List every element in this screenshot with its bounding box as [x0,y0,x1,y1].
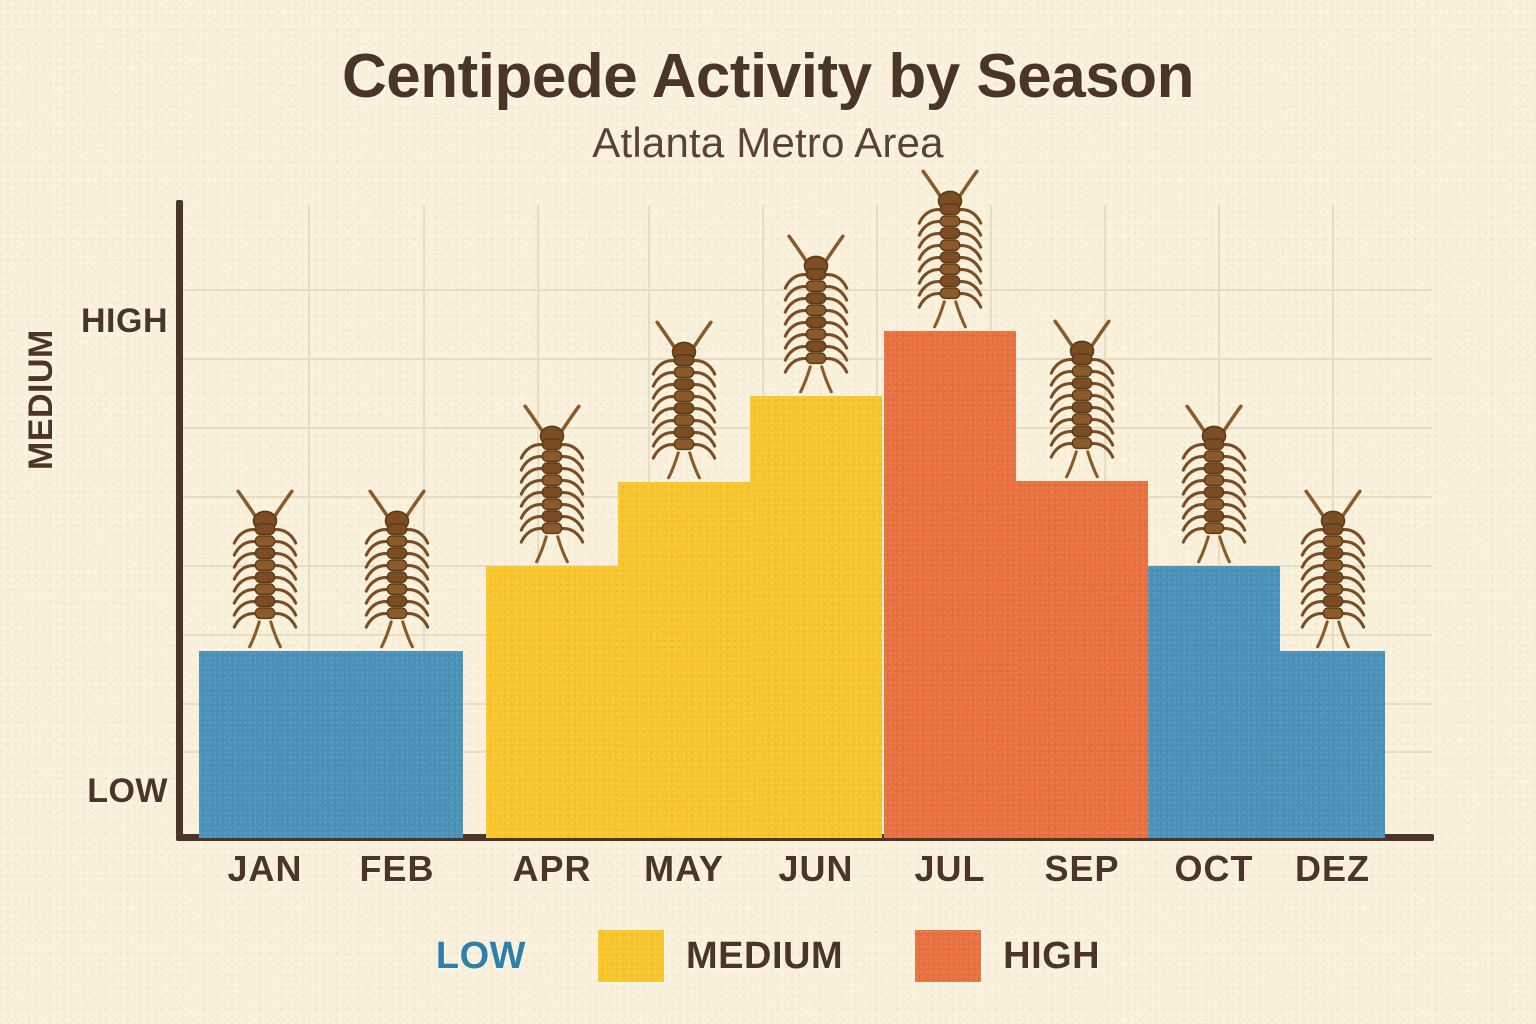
bar-fill [331,651,463,838]
x-axis-label-feb: FEB [327,848,467,890]
legend-item-medium[interactable]: MEDIUM [598,930,843,982]
bar-jun[interactable] [750,396,882,838]
legend-item-high[interactable]: HIGH [915,930,1100,982]
legend-swatch-high [915,930,981,982]
legend-item-low[interactable]: LOW [436,935,526,978]
centipede-icon [217,485,313,655]
centipede-icon [504,400,600,570]
bar-may[interactable] [618,482,750,838]
centipede-icon [636,316,732,486]
legend-label-medium: MEDIUM [686,935,843,978]
x-axis-label-jan: JAN [195,848,335,890]
bar-feb[interactable] [331,651,463,838]
bar-fill [1148,566,1280,838]
bar-dez[interactable] [1280,651,1385,838]
bar-fill [884,331,1016,838]
bar-fill [1016,481,1148,838]
bar-jul[interactable] [884,331,1016,838]
x-axis-label-may: MAY [614,848,754,890]
bar-oct[interactable] [1148,566,1280,838]
bar-apr[interactable] [486,566,618,838]
legend-label-low: LOW [436,935,526,978]
bar-fill [618,482,750,838]
legend-label-high: HIGH [1003,935,1100,978]
x-axis-label-sep: SEP [1012,848,1152,890]
chart-canvas: Centipede Activity by Season Atlanta Met… [0,0,1536,1024]
x-axis-label-jun: JUN [746,848,886,890]
legend-swatch-medium [598,930,664,982]
legend: LOWMEDIUMHIGH [0,930,1536,982]
centipede-icon [1166,400,1262,570]
bars-layer: JAN FEB APR MAY JUN [0,0,1536,1024]
bar-fill [750,396,882,838]
x-axis-label-jul: JUL [880,848,1020,890]
centipede-icon [1285,485,1381,655]
bar-jan[interactable] [199,651,331,838]
bar-fill [199,651,331,838]
bar-fill [486,566,618,838]
x-axis-label-dez: DEZ [1263,848,1403,890]
centipede-icon [349,485,445,655]
centipede-icon [768,230,864,400]
centipede-icon [902,165,998,335]
bar-sep[interactable] [1016,481,1148,838]
x-axis-label-apr: APR [482,848,622,890]
centipede-icon [1034,315,1130,485]
bar-fill [1280,651,1385,838]
